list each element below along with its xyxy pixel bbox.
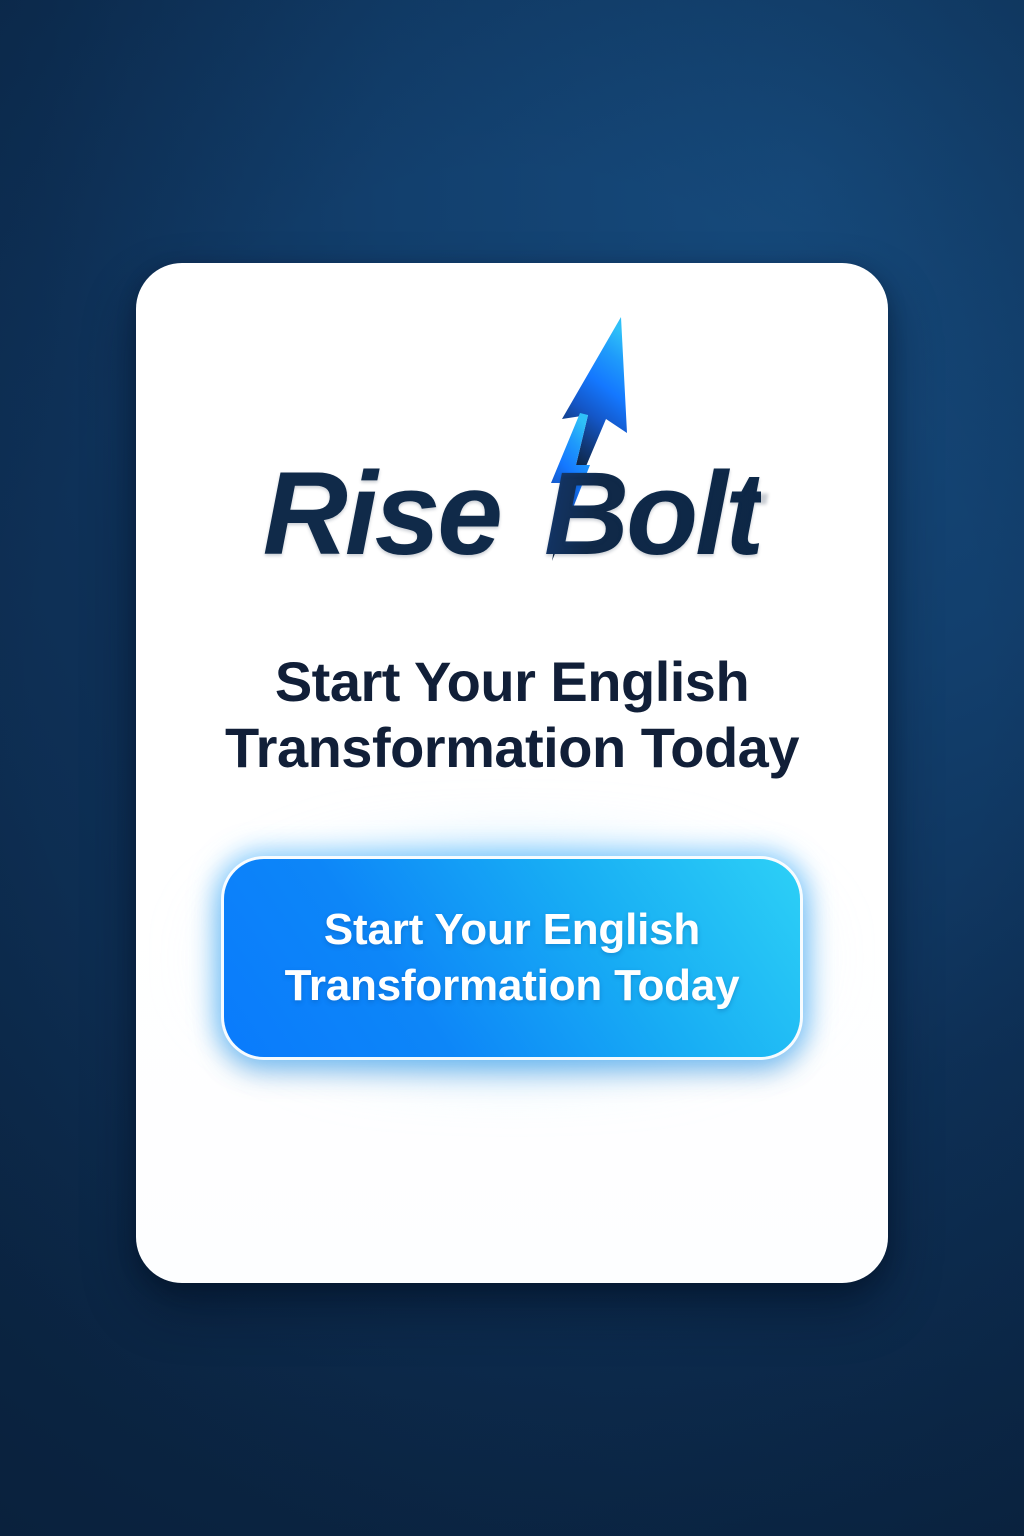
- brand-logo: RiseBolt: [136, 315, 888, 575]
- headline: Start Your English Transformation Today: [176, 649, 848, 781]
- card-content: RiseBolt Start Your English Transformati…: [136, 263, 888, 1283]
- cta-label-line-2: Transformation Today: [285, 958, 740, 1014]
- brand-wordmark-bolt: Bolt: [544, 448, 761, 580]
- cta-area: Start Your English Transformation Today: [136, 823, 888, 1093]
- page-background: RiseBolt Start Your English Transformati…: [0, 0, 1024, 1536]
- headline-line-1: Start Your English: [176, 649, 848, 715]
- brand-wordmark-rise: Rise: [263, 448, 500, 580]
- cta-label-line-1: Start Your English: [324, 902, 700, 958]
- promo-card: RiseBolt Start Your English Transformati…: [136, 263, 888, 1283]
- start-transformation-button[interactable]: Start Your English Transformation Today: [224, 859, 800, 1057]
- brand-wordmark: RiseBolt: [136, 455, 888, 573]
- headline-line-2: Transformation Today: [176, 715, 848, 781]
